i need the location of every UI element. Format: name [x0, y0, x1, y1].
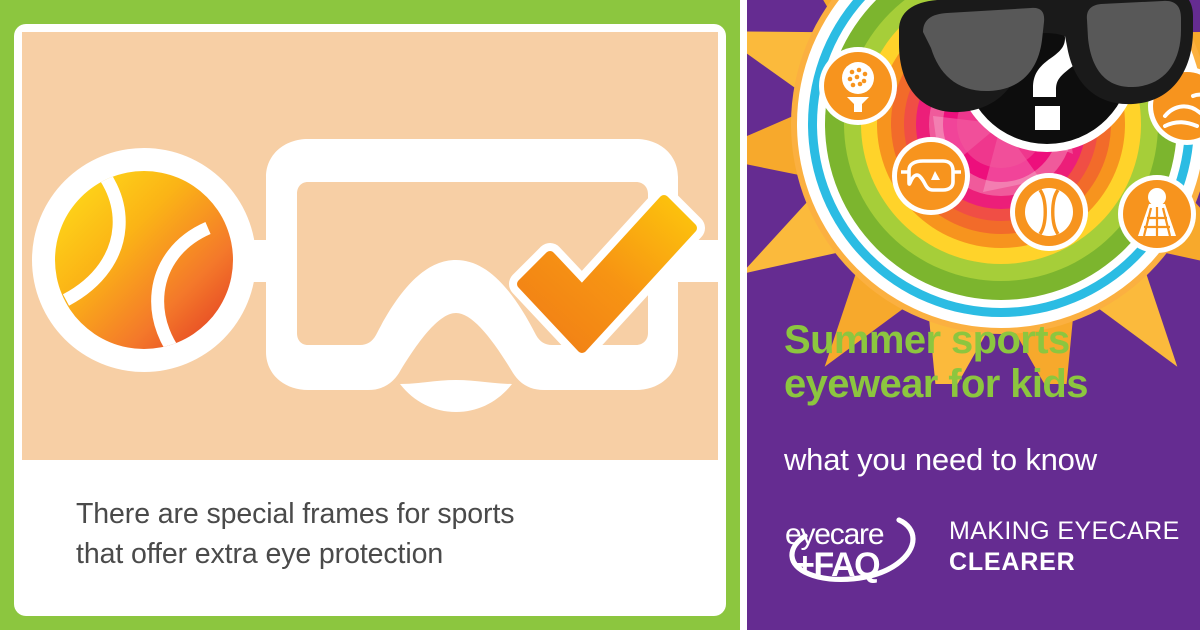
- caption-line-2: that offer extra eye protection: [76, 538, 443, 570]
- caption-text: There are special frames for sports that…: [76, 494, 696, 575]
- tagline-line-2: CLEARER: [949, 547, 1200, 578]
- caption-line-1: There are special frames for sports: [76, 498, 514, 530]
- tennis-ball-icon: [32, 148, 256, 372]
- golf-ball-on-tee-icon: [819, 47, 897, 125]
- social-graphic-canvas: There are special frames for sports that…: [0, 0, 1200, 630]
- headline-line-2: eyewear for kids: [784, 362, 1200, 406]
- subheadline: what you need to know: [784, 443, 1200, 477]
- left-panel: There are special frames for sports that…: [0, 0, 740, 630]
- eyecare-faq-logo: eyecare +FAQ: [781, 508, 931, 588]
- tennis-ball-icon: [1010, 173, 1088, 251]
- tagline-line-1: MAKING EYECARE: [949, 516, 1200, 547]
- shuttlecock-icon: [1118, 175, 1196, 253]
- headline: Summer sports eyewear for kids: [784, 318, 1200, 407]
- sports-goggles-illustration: [22, 32, 718, 460]
- logo-word-bottom: +FAQ: [795, 546, 880, 584]
- right-panel: Summer sports eyewear for kids what you …: [747, 0, 1200, 630]
- headline-line-1: Summer sports: [784, 318, 1070, 362]
- illustration-area: [22, 32, 718, 460]
- brand-bar: eyecare +FAQ MAKING EYECARE CLEARER: [781, 508, 1200, 588]
- swim-goggles-icon: [892, 137, 970, 215]
- tagline: MAKING EYECARE CLEARER: [949, 516, 1200, 577]
- info-card: There are special frames for sports that…: [14, 24, 726, 616]
